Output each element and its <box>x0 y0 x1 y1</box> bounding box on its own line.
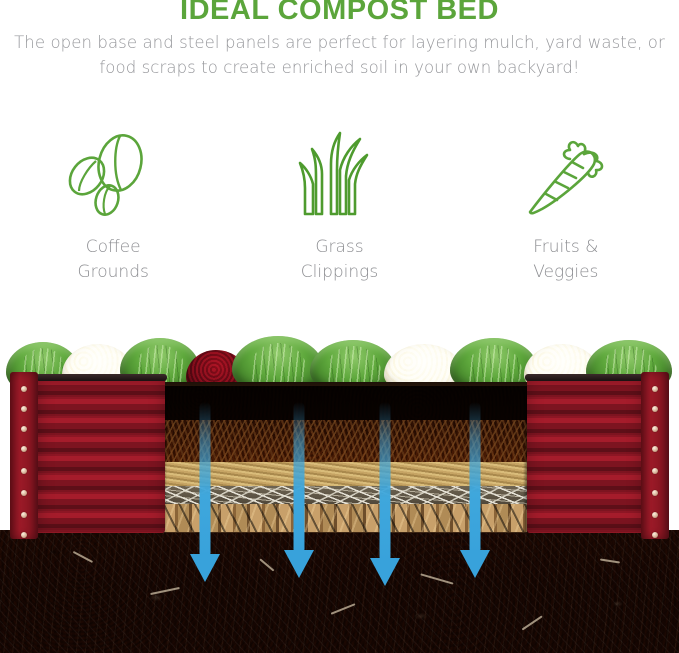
steel-panel-left <box>10 378 165 533</box>
arrow-stem <box>470 402 481 554</box>
page-title: IDEAL COMPOST BED <box>0 0 679 25</box>
corner-post-left <box>10 372 38 539</box>
rivet <box>652 386 658 392</box>
rivet <box>652 426 658 432</box>
rivet <box>652 532 658 538</box>
soil-twig <box>73 551 93 563</box>
ground-soil <box>0 530 679 653</box>
rivet <box>21 386 27 392</box>
soil-twig <box>260 558 275 571</box>
arrow-head-icon <box>190 554 220 582</box>
rivet <box>21 406 27 412</box>
feature-icon-row: Coffee Grounds Grass Clippings <box>0 128 679 285</box>
rivet <box>21 426 27 432</box>
rivet <box>21 468 27 474</box>
feature-label-line2: Veggies <box>533 260 598 285</box>
arrow-head-icon <box>460 550 490 578</box>
arrow-stem <box>380 402 391 562</box>
soil-twig <box>331 603 356 614</box>
feature-fruits-veggies: Fruits & Veggies <box>453 128 679 285</box>
product-photo-raised-garden-bed <box>0 330 679 653</box>
feature-label-grass: Grass Clippings <box>301 235 378 285</box>
carrot-icon <box>518 128 614 223</box>
arrow-stem <box>294 402 305 554</box>
steel-panel-right <box>527 378 669 533</box>
grass-blades-icon <box>291 128 387 223</box>
rivet <box>652 406 658 412</box>
arrow-head-icon <box>370 558 400 586</box>
soil-twig <box>600 558 620 563</box>
rivet <box>21 512 27 518</box>
panel-top-cap <box>525 374 645 381</box>
corner-post-right <box>641 372 669 539</box>
feature-grass-clippings: Grass Clippings <box>226 128 452 285</box>
feature-label-line1: Fruits & <box>533 235 598 260</box>
feature-label-veggies: Fruits & Veggies <box>533 235 598 285</box>
arrow-stem <box>200 402 211 558</box>
feature-label-line2: Clippings <box>301 260 378 285</box>
rivet <box>652 468 658 474</box>
feature-label-line1: Coffee <box>77 235 148 260</box>
rivet <box>21 446 27 452</box>
feature-label-line1: Grass <box>301 235 378 260</box>
rivet <box>652 446 658 452</box>
soil-twig <box>522 615 543 630</box>
feature-label-line2: Grounds <box>77 260 148 285</box>
coffee-beans-icon <box>65 128 161 223</box>
rivet <box>21 532 27 538</box>
panel-top-cap <box>36 374 167 381</box>
soil-twig <box>150 587 180 595</box>
arrow-head-icon <box>284 550 314 578</box>
corrugated-panel-surface <box>38 378 165 533</box>
rivet <box>652 512 658 518</box>
corrugated-panel-surface <box>527 378 643 533</box>
infographic-page: IDEAL COMPOST BED The open base and stee… <box>0 0 679 653</box>
feature-coffee-grounds: Coffee Grounds <box>0 128 226 285</box>
page-subtitle: The open base and steel panels are perfe… <box>0 30 679 80</box>
feature-label-coffee: Coffee Grounds <box>77 235 148 285</box>
soil-twig <box>420 573 453 584</box>
rivet <box>21 490 27 496</box>
header: IDEAL COMPOST BED The open base and stee… <box>0 0 679 80</box>
rivet <box>652 490 658 496</box>
